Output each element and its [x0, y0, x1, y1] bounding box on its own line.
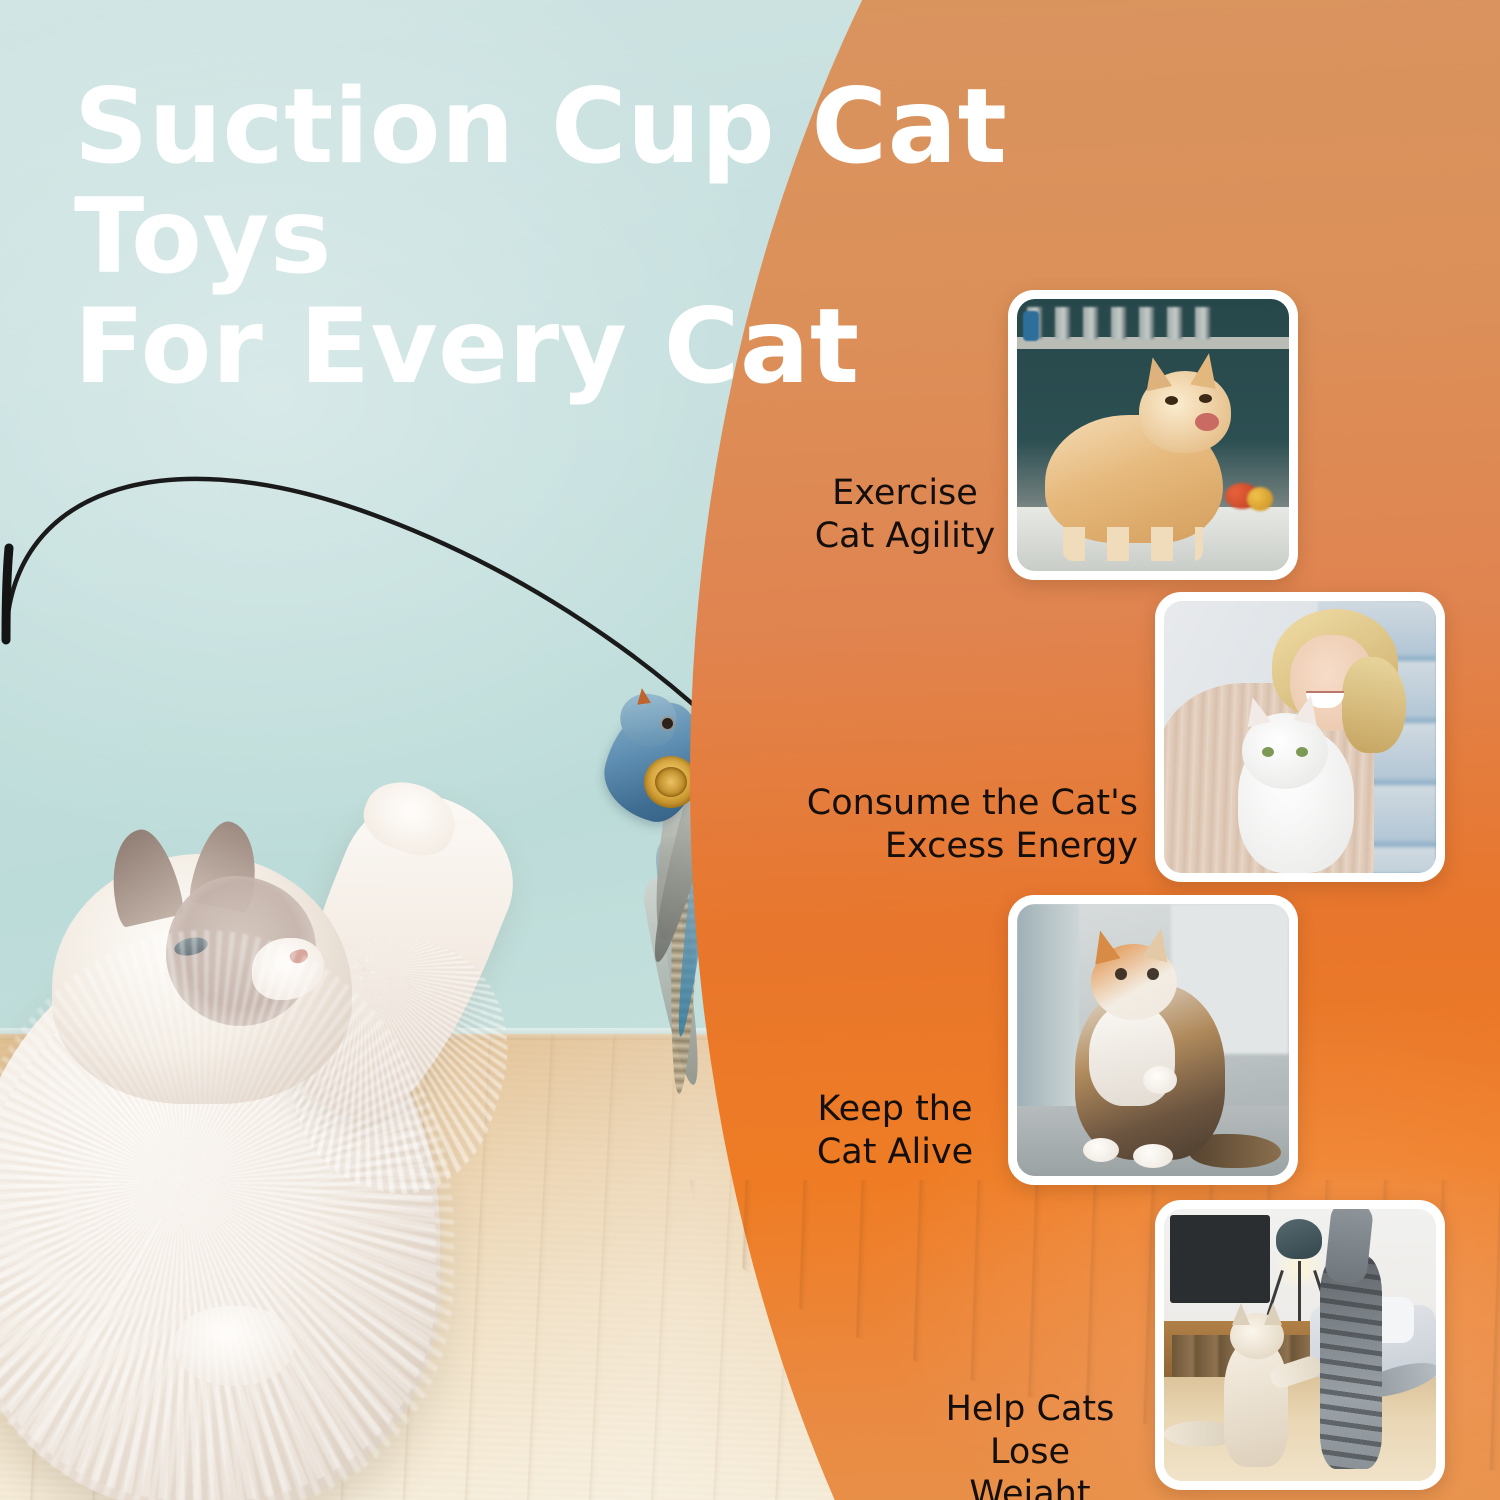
feature-caption-exercise-cat-agility: Exercise Cat Agility [812, 472, 998, 557]
thumb3-cat-eye-left [1115, 968, 1127, 980]
page-title-line-2: For Every Cat [74, 292, 1254, 402]
thumb1-fruit-yellow [1247, 487, 1273, 511]
thumb-image-calico-cat [1017, 904, 1289, 1176]
thumb-image-woman-with-cat [1164, 601, 1436, 873]
thumb3-cat-eye-right [1147, 968, 1159, 980]
toy-gold-flower-ornament [644, 756, 698, 808]
feature-caption-help-cats-lose-weight: Help Cats Lose Weiaht [930, 1388, 1130, 1500]
feature-thumbnail-help-cats-lose-weight[interactable] [1155, 1200, 1445, 1490]
thumb4-lamp-leg-center [1298, 1261, 1301, 1327]
ragdoll-cat [0, 820, 580, 1500]
feature-caption-keep-cat-alive: Keep the Cat Alive [800, 1088, 990, 1173]
toy-bird-eye [662, 718, 673, 729]
thumb-image-two-cats-playing [1164, 1209, 1436, 1481]
thumb3-cat-paw-b [1133, 1144, 1173, 1168]
product-infographic: Suction Cup Cat Toys For Every Cat Exerc… [0, 0, 1500, 1500]
thumb4-lamp-shade [1276, 1219, 1322, 1259]
page-title: Suction Cup Cat Toys For Every Cat [74, 72, 1254, 403]
thumb1-cat-mouth [1195, 413, 1219, 431]
feature-caption-consume-excess-energy: Consume the Cat's Excess Energy [778, 782, 1138, 867]
thumb2-cat-eye-left [1262, 747, 1274, 757]
thumb1-cat-legs [1063, 527, 1203, 561]
thumb3-cat-paw-raised [1143, 1066, 1177, 1094]
thumb4-cat-b-stripes [1320, 1255, 1382, 1469]
thumb2-cat-eye-right [1296, 747, 1308, 757]
feature-thumbnail-keep-cat-alive[interactable] [1008, 895, 1298, 1185]
thumb2-hair-side [1342, 657, 1406, 753]
thumb4-tv [1170, 1215, 1270, 1303]
page-title-line-1: Suction Cup Cat Toys [74, 67, 1007, 297]
feature-thumbnail-consume-excess-energy[interactable] [1155, 592, 1445, 882]
thumb3-cat-paw-a [1083, 1138, 1119, 1162]
